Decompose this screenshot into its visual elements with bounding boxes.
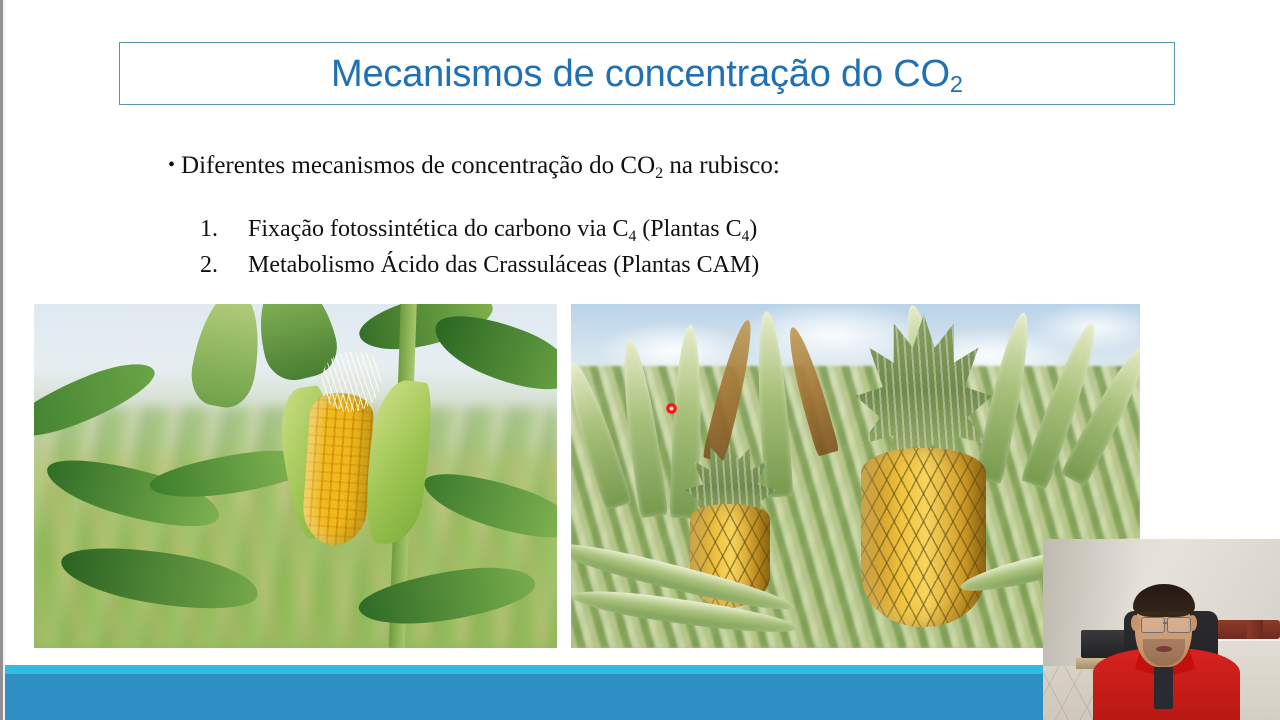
laser-pointer-dot xyxy=(666,403,677,414)
slide-title-box: Mecanismos de concentração do CO2 xyxy=(119,42,1175,105)
slide-title-subscript: 2 xyxy=(950,71,963,97)
webcam-shirt-placket xyxy=(1154,662,1173,709)
list-item-text: Fixação fotossintética do carbono via C4… xyxy=(248,212,757,248)
list-item-text-after: ) xyxy=(749,216,757,242)
presenter-webcam-overlay[interactable] xyxy=(1043,539,1280,720)
bullet-marker: • xyxy=(168,154,175,176)
numbered-list: 1. Fixação fotossintética do carbono via… xyxy=(200,212,759,283)
webcam-presenter-eyebrow-left xyxy=(1141,612,1160,615)
presentation-slide: Mecanismos de concentração do CO2 •Difer… xyxy=(0,0,1280,720)
list-item-text-mid: (Plantas C xyxy=(636,216,741,242)
bullet-text-before: Diferentes mecanismos de concentração do… xyxy=(181,152,655,179)
webcam-presenter-eyebrow-right xyxy=(1169,612,1188,615)
list-item-text: Metabolismo Ácido das Crassuláceas (Plan… xyxy=(248,248,759,284)
webcam-eyeglass-lens-left xyxy=(1141,617,1164,633)
list-item-subscript-1: 4 xyxy=(629,228,637,245)
slide-title-main: Mecanismos de concentração do CO xyxy=(331,53,950,95)
pineapple-fruit-large xyxy=(861,448,986,627)
list-item-text-before: Fixação fotossintética do carbono via C xyxy=(248,216,629,242)
capture-frame-edge-inner xyxy=(3,0,5,720)
bullet-text-after: na rubisco: xyxy=(663,152,780,179)
list-item-marker: 2. xyxy=(200,248,248,284)
list-item-marker: 1. xyxy=(200,212,248,248)
list-item-subscript-2: 4 xyxy=(742,228,750,245)
webcam-eyeglass-bridge xyxy=(1163,622,1168,623)
bullet-paragraph: •Diferentes mecanismos de concentração d… xyxy=(168,150,780,181)
webcam-eyeglass-lens-right xyxy=(1167,617,1190,633)
list-item: 2. Metabolismo Ácido das Crassuláceas (P… xyxy=(200,248,759,284)
bullet-subscript: 2 xyxy=(655,165,663,182)
list-item: 1. Fixação fotossintética do carbono via… xyxy=(200,212,759,248)
slide-title: Mecanismos de concentração do CO2 xyxy=(331,55,963,93)
list-item-text-before: Metabolismo Ácido das Crassuláceas (Plan… xyxy=(248,252,759,278)
corn-field-photo xyxy=(34,304,557,648)
